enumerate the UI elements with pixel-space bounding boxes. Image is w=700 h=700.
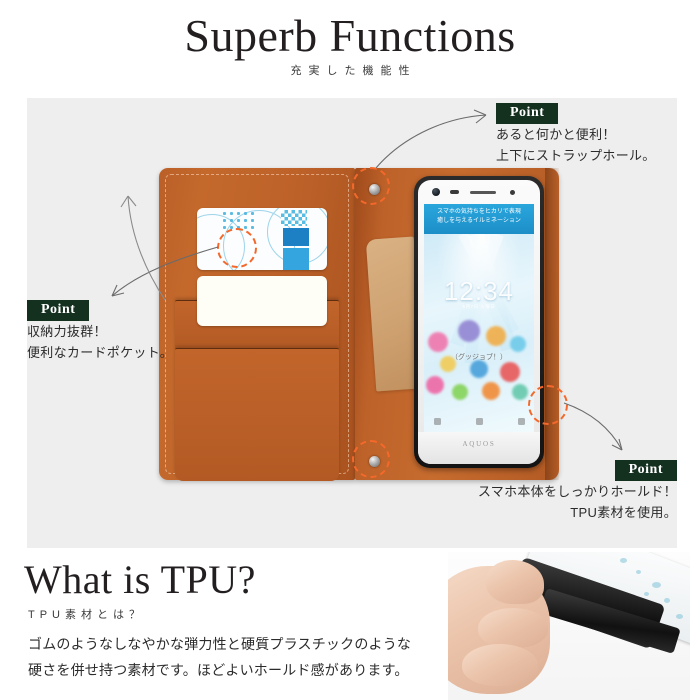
proximity-sensor-icon [510, 190, 515, 195]
callout-line-2: 上下にストラップホール。 [496, 145, 656, 166]
wallet-case-photo: スマホの気持ちをヒカリで表現 癒しを与えるイルミネーション 12:34 5月7日… [159, 168, 559, 480]
tpu-section-body: ゴムのようなしなやかな弾力性と硬質プラスチックのような 硬さを併せ持つ素材です。… [28, 632, 438, 684]
highlight-circle-strap-top [352, 167, 390, 205]
callout-card-pocket: Point 収納力抜群！ 便利なカードポケット。 [27, 300, 173, 364]
highlight-circle-tpu-hold [528, 385, 568, 425]
point-badge: Point [27, 300, 89, 321]
highlight-circle-card-pocket [217, 228, 257, 268]
photo-thumb [486, 560, 544, 604]
lockscreen-date: 5月7日 火曜日 [424, 304, 534, 310]
lockscreen-clock: 12:34 [424, 276, 534, 307]
smartphone: スマホの気持ちをヒカリで表現 癒しを与えるイルミネーション 12:34 5月7日… [414, 176, 544, 468]
tpu-section-title: What is TPU? [24, 556, 256, 603]
point-badge: Point [615, 460, 677, 481]
highlight-circle-strap-bottom [352, 440, 390, 478]
photo-finger-1 [478, 608, 548, 648]
earpiece-speaker [470, 191, 496, 194]
plain-card [197, 276, 327, 326]
tpu-body-line-1: ゴムのようなしなやかな弾力性と硬質プラスチックのような [28, 632, 438, 658]
callout-strap-hole: Point あると何かと便利！ 上下にストラップホール。 [496, 103, 656, 167]
screen-banner: スマホの気持ちをヒカリで表現 癒しを与えるイルミネーション [424, 204, 534, 234]
callout-line-1: 収納力抜群！ [27, 321, 173, 342]
screen-wallpaper: 12:34 5月7日 火曜日 [424, 234, 534, 432]
page-title: Superb Functions [0, 8, 700, 63]
screen-banner-line2: 癒しを与えるイルミネーション [427, 217, 531, 226]
callout-line-2: TPU素材を使用。 [440, 502, 677, 523]
phone-top-bezel [418, 180, 540, 204]
patterned-card [197, 208, 327, 270]
callout-tpu-hold: Point スマホ本体をしっかりホールド！ TPU素材を使用。 [440, 460, 677, 524]
card-pocket-lower [175, 348, 339, 481]
sensor-icon [450, 190, 459, 194]
callout-line-1: あると何かと便利！ [496, 124, 656, 145]
tpu-body-line-2: 硬さを併せ持つ素材です。ほどよいホールド感があります。 [28, 658, 438, 684]
tpu-section-subtitle: TPU素材とは？ [28, 606, 145, 622]
screen-banner-line1: スマホの気持ちをヒカリで表現 [427, 208, 531, 217]
screen-dock [424, 416, 534, 430]
callout-line-2: 便利なカードポケット。 [27, 342, 173, 363]
phone-screen: スマホの気持ちをヒカリで表現 癒しを与えるイルミネーション 12:34 5月7日… [424, 204, 534, 432]
illumination-dots [424, 326, 534, 416]
page-header: Superb Functions 充実した機能性 [0, 0, 700, 98]
point-badge: Point [496, 103, 558, 124]
tpu-flex-photo [448, 552, 690, 700]
page-subtitle: 充実した機能性 [0, 62, 700, 78]
callout-line-1: スマホ本体をしっかりホールド！ [440, 481, 677, 502]
phone-body: スマホの気持ちをヒカリで表現 癒しを与えるイルミネーション 12:34 5月7日… [418, 180, 540, 464]
dock-home-icon [476, 418, 483, 425]
photo-finger-2 [462, 644, 538, 686]
phone-brand-label: AQUOS [418, 440, 540, 448]
screen-caption: （グッジョブ！） [424, 352, 534, 362]
dock-camera-icon [518, 418, 525, 425]
front-camera-icon [432, 188, 440, 196]
case-spine [545, 168, 559, 480]
dock-add-icon [434, 418, 441, 425]
